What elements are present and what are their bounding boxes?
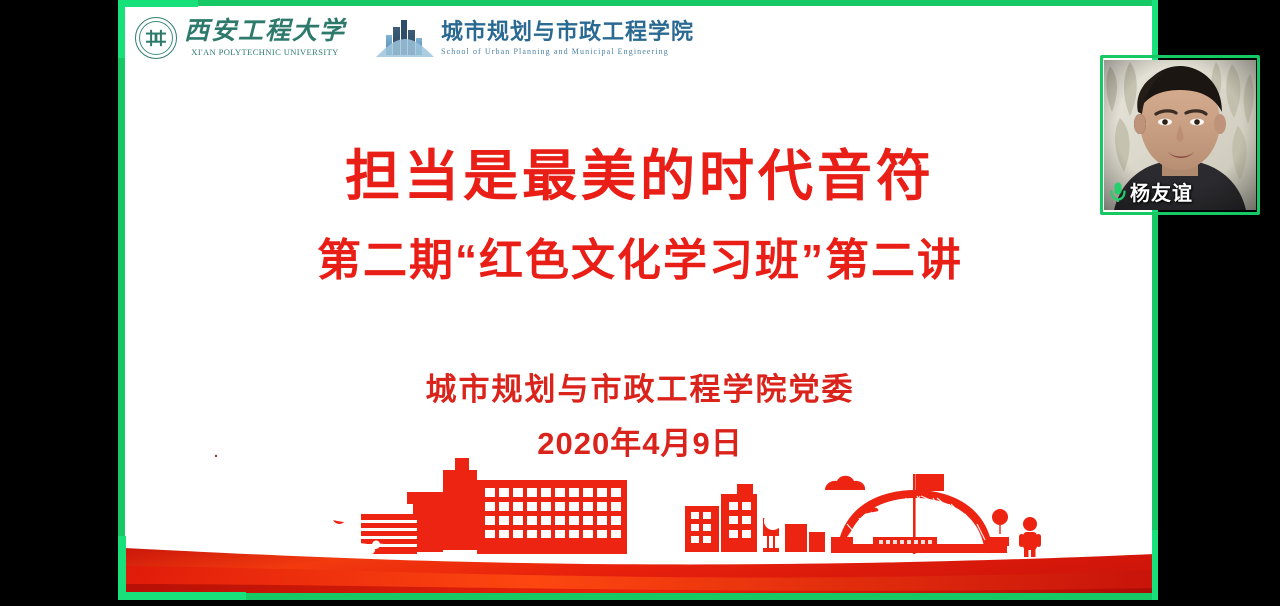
seal-glyph-icon	[145, 28, 167, 48]
microphone-icon	[1108, 181, 1128, 203]
university-name-en: XI'AN POLYTECHNIC UNIVERSITY	[184, 48, 346, 57]
shared-slide[interactable]: 西安工程大学 XI'AN POLYTECHNIC UNIVERSITY	[125, 6, 1155, 598]
slide-sub-title: 第二期“红色文化学习班”第二讲	[125, 237, 1155, 285]
slide-bottom-artwork	[125, 398, 1155, 598]
share-frame-corner-top-left-v	[118, 0, 125, 58]
participant-name: 杨友谊	[1130, 177, 1193, 206]
slide-header: 西安工程大学 XI'AN POLYTECHNIC UNIVERSITY	[135, 12, 694, 64]
school-logo: 城市规划与市政工程学院 School of Urban Planning and…	[376, 17, 694, 59]
school-name-en: School of Urban Planning and Municipal E…	[441, 48, 694, 56]
university-logo: 西安工程大学 XI'AN POLYTECHNIC UNIVERSITY	[135, 17, 346, 59]
school-name-cn: 城市规划与市政工程学院	[441, 21, 694, 43]
slide-main-title: 担当是最美的时代音符	[125, 146, 1155, 207]
university-seal-icon	[135, 17, 177, 59]
red-campus-skyline-icon	[332, 458, 1041, 557]
meeting-screen: 西安工程大学 XI'AN POLYTECHNIC UNIVERSITY	[0, 0, 1280, 606]
share-frame-left-edge	[118, 0, 125, 600]
city-buildings-icon	[376, 17, 434, 59]
slide-title-block: 担当是最美的时代音符 第二期“红色文化学习班”第二讲	[125, 146, 1155, 285]
participant-video-tile[interactable]: 杨友谊	[1104, 60, 1256, 210]
participant-label: 杨友谊	[1108, 177, 1193, 206]
red-ribbon-wave-icon	[125, 548, 1155, 598]
university-name-cn: 西安工程大学	[184, 19, 346, 44]
